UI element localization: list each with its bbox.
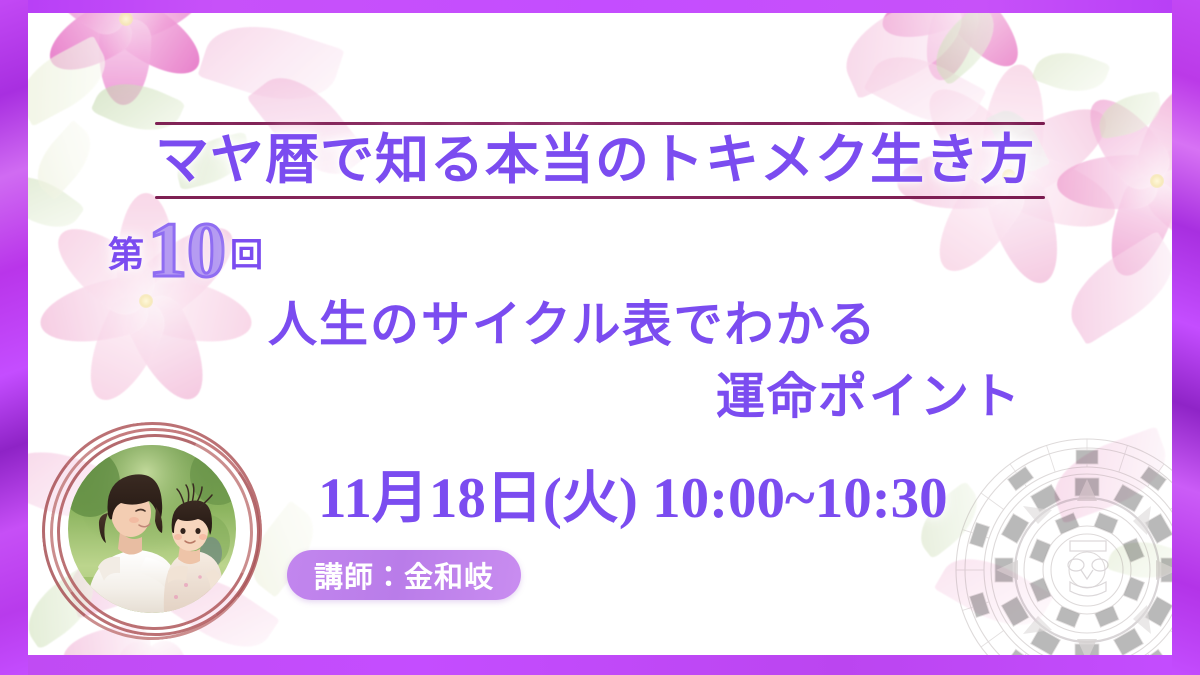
title-rule-bottom [155, 196, 1045, 199]
frame-border-left [0, 0, 28, 675]
frame-border-top [0, 0, 1200, 13]
event-datetime: 11月18日(火) 10:00~10:30 [318, 466, 948, 532]
episode-prefix: 第 [108, 237, 144, 282]
episode-number: 第 10 回 [108, 218, 263, 282]
promo-banner: マヤ暦で知る本当のトキメク生き方 第 10 回 人生のサイクル表でわかる 運命ポ… [0, 0, 1200, 675]
subtitle-line-2: 運命ポイント [716, 368, 1022, 426]
episode-suffix: 回 [230, 240, 263, 282]
frame-border-right [1172, 0, 1200, 675]
episode-count: 10 [144, 218, 230, 282]
lecturer-label: 講師：金和岐 [314, 554, 494, 596]
lecturer-badge: 講師：金和岐 [287, 550, 521, 600]
subtitle-line-1: 人生のサイクル表でわかる [268, 296, 878, 354]
instructor-photo-frame [42, 420, 264, 642]
mayan-calendar-icon [952, 435, 1200, 675]
title-rule-top [155, 122, 1045, 125]
frame-border-bottom [0, 655, 1200, 675]
photo-ring-inner [29, 406, 280, 657]
page-title: マヤ暦で知る本当のトキメク生き方 [155, 128, 1055, 192]
